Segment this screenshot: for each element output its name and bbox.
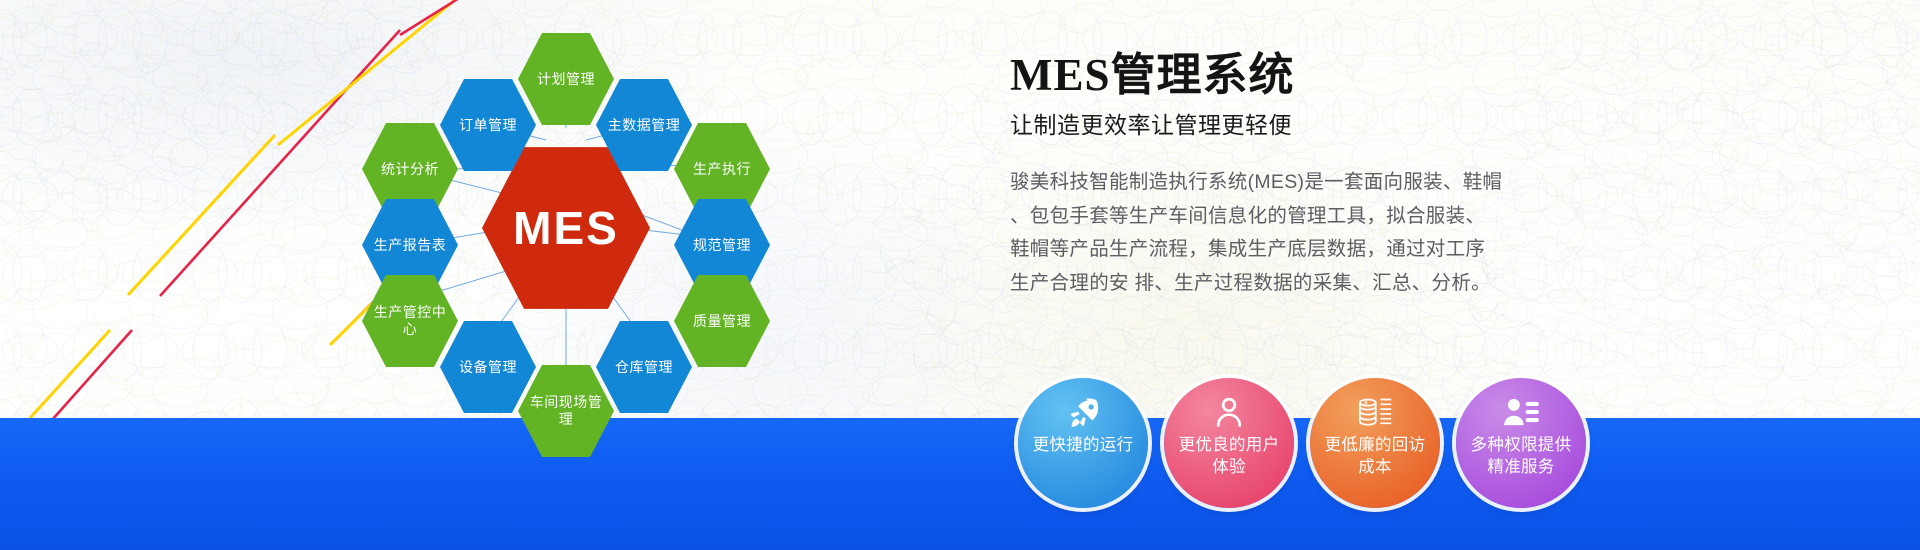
badge-lower-cost[interactable]: ¥ 更低廉的回访成本 (1310, 378, 1440, 508)
node-label: 订单管理 (453, 117, 523, 134)
node-label: 主数据管理 (602, 117, 687, 134)
badge-label: 多种权限提供精准服务 (1456, 434, 1586, 479)
node-label: 仓库管理 (609, 359, 679, 376)
rocket-icon (1066, 392, 1100, 432)
badge-label: 更优良的用户体验 (1164, 434, 1294, 479)
description-line: 、包包手套等生产车间信息化的管理工具，拟合服装、 (1010, 200, 1610, 234)
node-label: 设备管理 (453, 359, 523, 376)
badge-label: 更快捷的运行 (1023, 434, 1144, 456)
roles-icon (1502, 392, 1540, 432)
badge-faster-operation[interactable]: 更快捷的运行 (1018, 378, 1148, 508)
node-label: 生产执行 (687, 161, 757, 178)
node-label: 规范管理 (687, 237, 757, 254)
coins-icon: ¥ (1357, 392, 1393, 432)
feature-badge-row: 更快捷的运行 更优良的用户体验 (1018, 378, 1586, 508)
page-subtitle: 让制造更效率让管理更轻便 (1010, 106, 1610, 140)
mes-hexagon-diagram: MES 计划管理 订单管理 主数据管理 统计分析 生产执行 生产报告表 规范管理… (300, 0, 900, 480)
badge-better-experience[interactable]: 更优良的用户体验 (1164, 378, 1294, 508)
node-label: 质量管理 (687, 313, 757, 330)
node-label: 统计分析 (375, 161, 445, 178)
center-label: MES (507, 201, 625, 255)
description-line: 生产合理的安 排、生产过程数据的采集、汇总、分析。 (1010, 267, 1610, 301)
user-icon (1212, 392, 1246, 432)
bottom-blue-band (0, 418, 1920, 550)
node-label: 生产报告表 (368, 237, 453, 254)
banner-text-column: MES管理系统 让制造更效率让管理更轻便 骏美科技智能制造执行系统(MES)是一… (1010, 52, 1610, 300)
node-label: 车间现场管理 (518, 394, 614, 427)
node-label: 生产管控中心 (362, 304, 458, 337)
description-line: 骏美科技智能制造执行系统(MES)是一套面向服装、鞋帽 (1010, 166, 1610, 200)
badge-permissions[interactable]: 多种权限提供精准服务 (1456, 378, 1586, 508)
description-line: 鞋帽等产品生产流程，集成生产底层数据，通过对工序 (1010, 233, 1610, 267)
description-block: 骏美科技智能制造执行系统(MES)是一套面向服装、鞋帽 、包包手套等生产车间信息… (1010, 166, 1610, 300)
page-title: MES管理系统 (1010, 52, 1610, 99)
banner-stage: MES 计划管理 订单管理 主数据管理 统计分析 生产执行 生产报告表 规范管理… (0, 0, 1920, 550)
badge-label: 更低廉的回访成本 (1310, 434, 1440, 479)
node-label: 计划管理 (531, 71, 601, 88)
